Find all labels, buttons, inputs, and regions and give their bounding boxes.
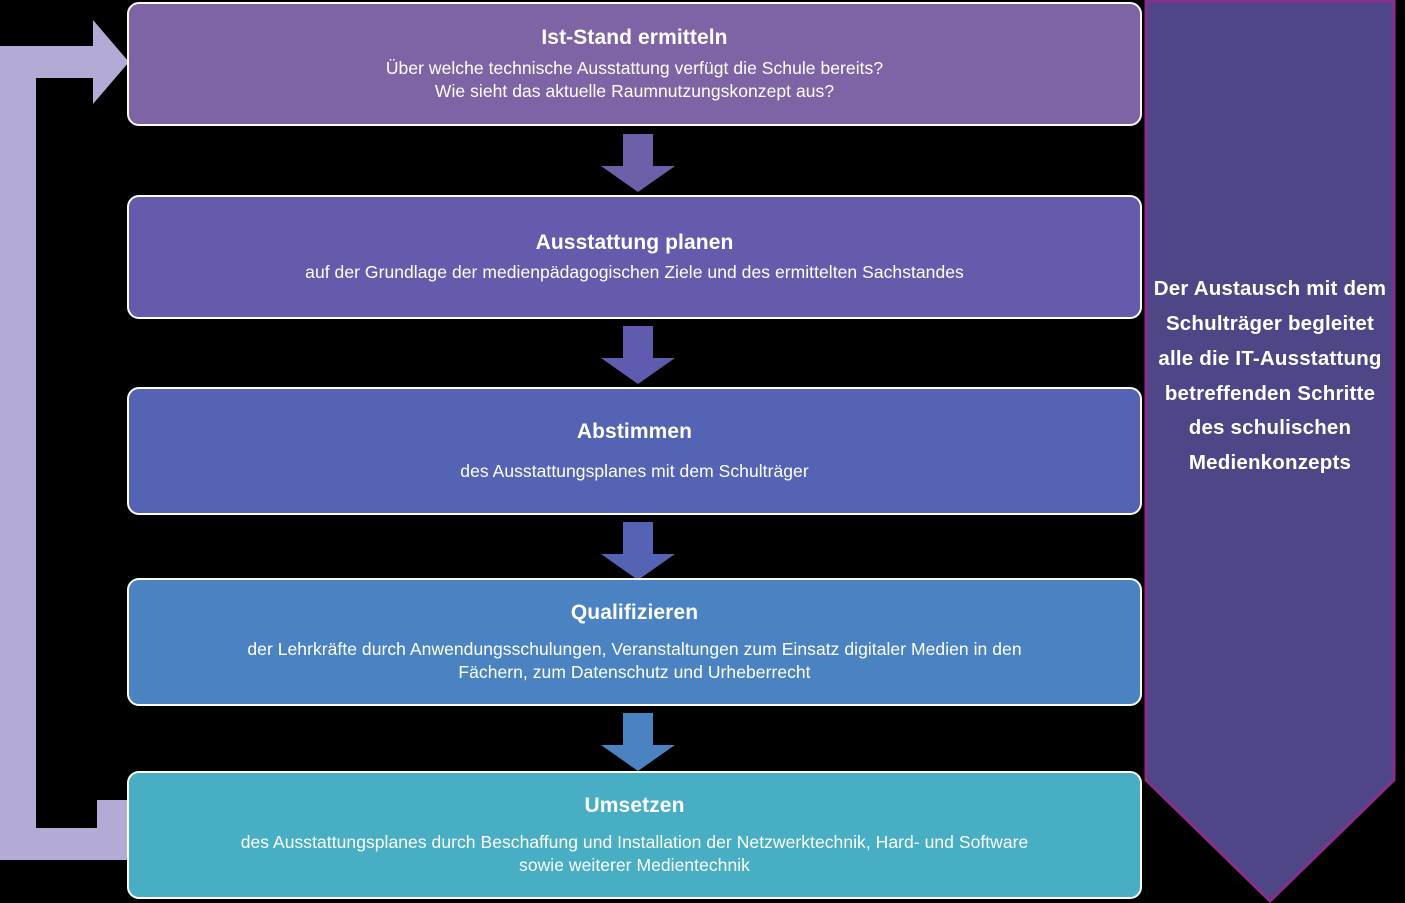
arrow-step3-to-step4-icon — [598, 522, 678, 580]
process-step-qualifizieren[interactable]: Qualifizieren der Lehrkräfte durch Anwen… — [127, 578, 1142, 706]
step-description: auf der Grundlage der medienpädagogische… — [305, 261, 964, 284]
step-description-line: Fächern, zum Datenschutz und Urheberrech… — [247, 661, 1021, 684]
arrow-step4-to-step5-icon — [598, 713, 678, 771]
step-description-line: sowie weiterer Medientechnik — [241, 854, 1029, 877]
step-description-line: des Ausstattungsplanes mit dem Schulträg… — [460, 460, 808, 483]
step-title: Abstimmen — [577, 419, 692, 445]
step-description: des Ausstattungsplanes durch Beschaffung… — [241, 831, 1029, 877]
step-description: der Lehrkräfte durch Anwendungsschulunge… — [247, 638, 1021, 684]
diagram-canvas: Ist-Stand ermitteln Über welche technisc… — [0, 0, 1405, 903]
side-banner-shape — [1144, 0, 1396, 903]
step-description-line: Wie sieht das aktuelle Raumnutzungskonze… — [386, 80, 883, 103]
step-description-line: der Lehrkräfte durch Anwendungsschulunge… — [247, 638, 1021, 661]
step-title: Umsetzen — [585, 793, 685, 819]
arrow-step1-to-step2-icon — [598, 134, 678, 192]
step-description-line: Über welche technische Ausstattung verfü… — [386, 57, 883, 80]
step-description: des Ausstattungsplanes mit dem Schulträg… — [460, 460, 808, 483]
process-step-ausstattung-planen[interactable]: Ausstattung planen auf der Grundlage der… — [127, 195, 1142, 319]
step-description-line: des Ausstattungsplanes durch Beschaffung… — [241, 831, 1029, 854]
step-description: Über welche technische Ausstattung verfü… — [386, 57, 883, 103]
step-title: Ausstattung planen — [536, 230, 734, 256]
step-description-line: auf der Grundlage der medienpädagogische… — [305, 261, 964, 284]
arrow-step2-to-step3-icon — [598, 326, 678, 384]
process-step-umsetzen[interactable]: Umsetzen des Ausstattungsplanes durch Be… — [127, 771, 1142, 899]
step-title: Ist-Stand ermitteln — [541, 25, 727, 51]
process-step-ist-stand-ermitteln[interactable]: Ist-Stand ermitteln Über welche technisc… — [127, 2, 1142, 126]
process-step-abstimmen[interactable]: Abstimmen des Ausstattungsplanes mit dem… — [127, 387, 1142, 515]
feedback-loop-arrow — [0, 0, 130, 903]
step-title: Qualifizieren — [571, 600, 698, 626]
